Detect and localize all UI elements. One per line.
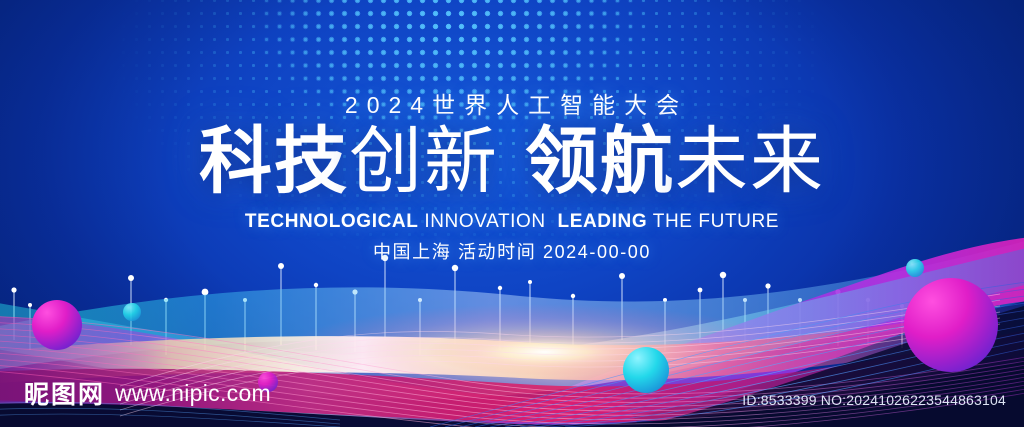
tagline-light-1: INNOVATION — [424, 211, 545, 232]
tagline-bold-2: LEADING — [558, 211, 648, 232]
watermark-url: www.nipic.com — [115, 380, 271, 407]
title-part-2: 创新 — [349, 121, 499, 202]
title-part-1: 科技 — [199, 121, 349, 202]
title-part-3: 领航 — [525, 121, 675, 202]
tagline-bold-1: TECHNOLOGICAL — [245, 211, 419, 232]
watermark-brand-cn: 昵图网 — [24, 375, 105, 411]
page-title: 科技创新领航未来 — [0, 123, 1024, 201]
event-subtitle: 2024世界人工智能大会 — [0, 86, 1024, 120]
title-part-4: 未来 — [675, 121, 825, 202]
watermark: 昵图网 www.nipic.com — [24, 375, 271, 411]
english-tagline: TECHNOLOGICAL INNOVATION LEADING THE FUT… — [0, 211, 1024, 233]
image-id-code: ID:8533399 NO:20241026223544863104 — [742, 392, 1006, 408]
conference-poster: 2024世界人工智能大会 科技创新领航未来 TECHNOLOGICAL INNO… — [0, 0, 1024, 427]
poster-text-layer: 2024世界人工智能大会 科技创新领航未来 TECHNOLOGICAL INNO… — [0, 0, 1024, 427]
tagline-light-2: THE FUTURE — [653, 211, 779, 232]
event-info-line: 中国上海 活动时间 2024-00-00 — [0, 238, 1024, 264]
